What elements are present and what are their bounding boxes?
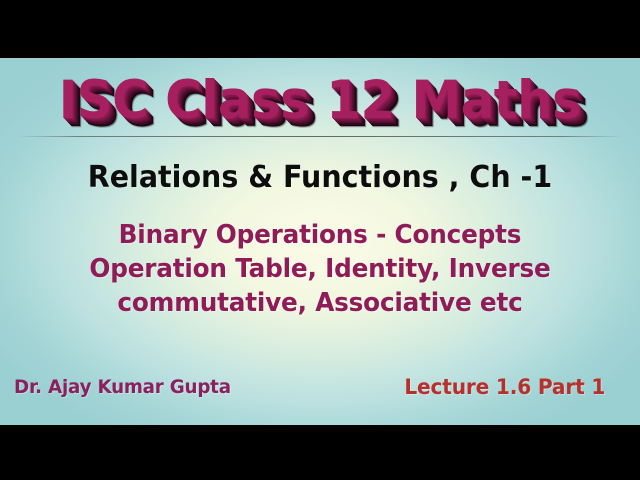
topic-line-1: Binary Operations - Concepts [16,218,624,252]
page-title: ISC Class 12 Maths [19,66,621,136]
letterbox-bar-bottom [0,425,640,480]
thumbnail-canvas: ISC Class 12 Maths ISC Class 12 Maths Re… [0,0,640,480]
title-block: ISC Class 12 Maths [0,66,640,142]
topic-line-2: Operation Table, Identity, Inverse [16,252,624,286]
title-floor-line [18,136,622,137]
topic-list: Binary Operations - Concepts Operation T… [0,218,640,320]
topic-line-3: commutative, Associative etc [16,286,624,320]
chapter-subtitle: Relations & Functions , Ch -1 [16,158,624,198]
letterbox-bar-top [0,0,640,58]
author-name: Dr. Ajay Kumar Gupta [14,374,231,400]
lecture-number-badge: Lecture 1.6 Part 1 [404,373,605,401]
